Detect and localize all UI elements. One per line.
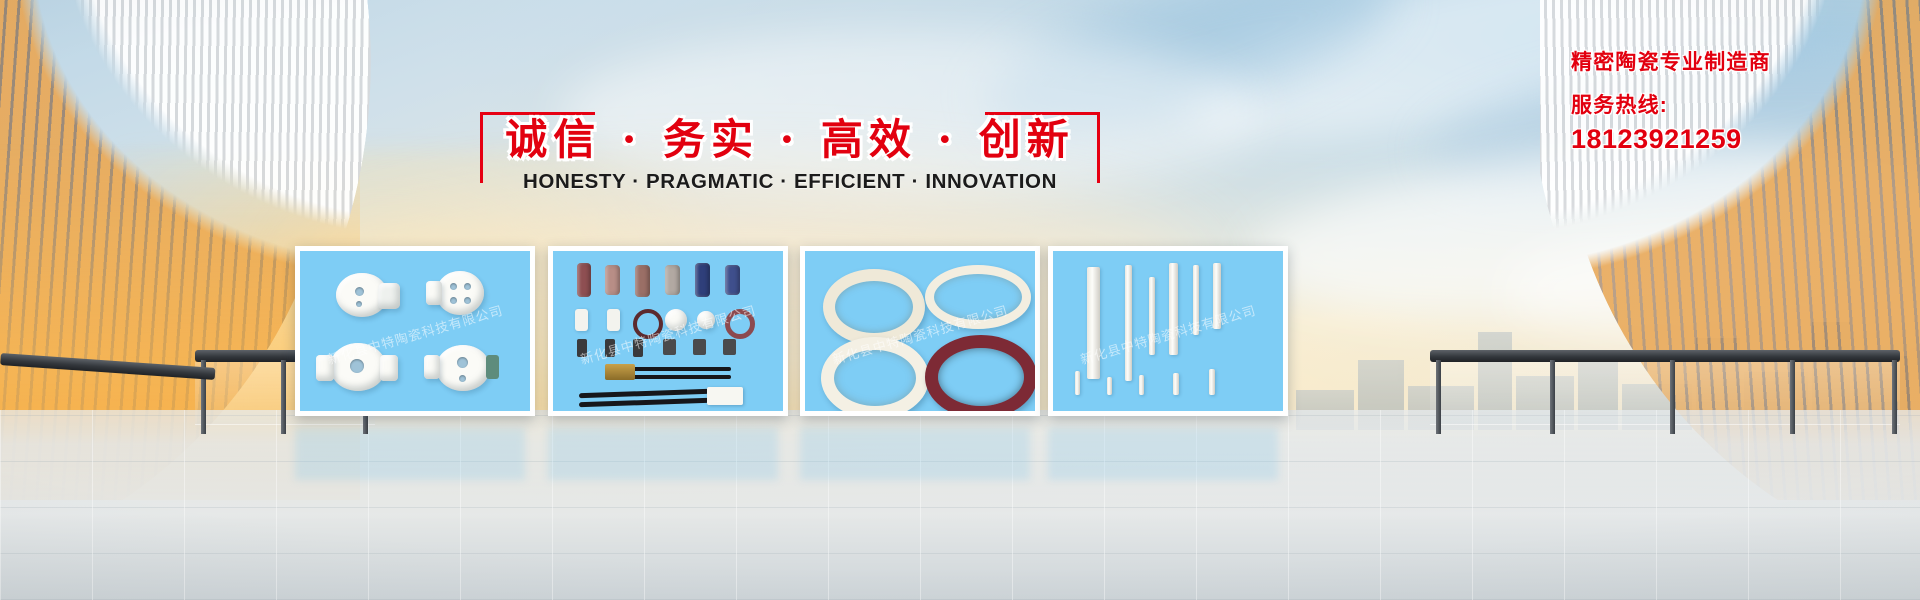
railing-right xyxy=(1430,350,1900,436)
slogan-block: 诚信 · 务实 · 高效 · 创新 HONESTY · PRAGMATIC · … xyxy=(480,108,1100,208)
hotline-label: 服务热线: xyxy=(1571,95,1901,116)
red-ceramic-ring xyxy=(925,335,1037,416)
product-photo-tubes-connectors xyxy=(553,251,783,411)
hero-banner: 诚信 · 务实 · 高效 · 创新 HONESTY · PRAGMATIC · … xyxy=(0,0,1920,600)
ceramic-ring xyxy=(925,265,1031,329)
contact-block: 精密陶瓷专业制造商 服务热线: 18123921259 xyxy=(1571,52,1901,153)
product-photo-ceramic-rings xyxy=(805,251,1035,411)
product-photo-lamp-holders xyxy=(300,251,530,411)
railing-left-lower xyxy=(0,368,215,428)
ceramic-ring xyxy=(823,269,925,345)
hotline-number[interactable]: 18123921259 xyxy=(1571,126,1901,153)
product-photo-ceramic-rods xyxy=(1053,251,1283,411)
slogan-english: HONESTY · PRAGMATIC · EFFICIENT · INNOVA… xyxy=(480,170,1100,194)
ceramic-ring xyxy=(821,337,929,416)
terrace-floor xyxy=(0,410,1920,600)
product-panel-4[interactable]: 新化县中特陶瓷科技有限公司 xyxy=(1048,246,1288,416)
product-panel-3[interactable]: 新化县中特陶瓷科技有限公司 xyxy=(800,246,1040,416)
product-panel-1[interactable]: 新化县中特陶瓷科技有限公司 xyxy=(295,246,535,416)
slogan-chinese: 诚信 · 务实 · 高效 · 创新 xyxy=(480,106,1100,167)
company-tagline: 精密陶瓷专业制造商 xyxy=(1571,52,1901,73)
product-panel-2[interactable]: 新化县中特陶瓷科技有限公司 xyxy=(548,246,788,416)
